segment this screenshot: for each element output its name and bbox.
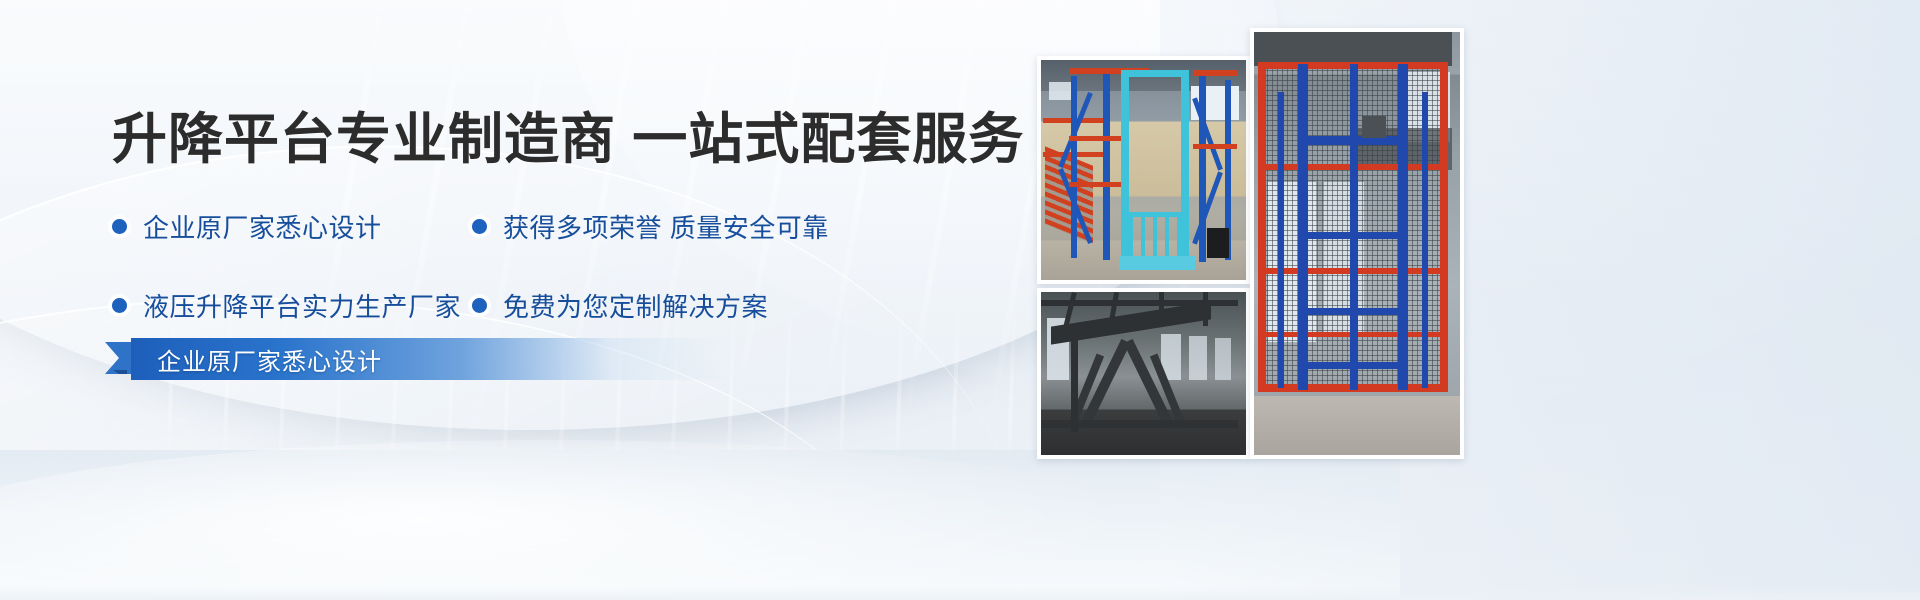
highlight-ribbon[interactable]: 企业原厂家悉心设计 — [105, 338, 745, 382]
banner-copy-block: 升降平台专业制造商 一站式配套服务 企业原厂家悉心设计 获得多项荣誉 质量安全可… — [0, 0, 1040, 600]
list-item: 企业原厂家悉心设计 — [112, 208, 472, 245]
photo-content — [1254, 32, 1460, 455]
caged-guide-rail-lift-photo[interactable] — [1250, 28, 1464, 459]
product-photo-collage — [1037, 0, 1920, 600]
photo-content — [1041, 60, 1246, 280]
ribbon-bar: 企业原厂家悉心设计 — [131, 338, 731, 380]
ribbon-label: 企业原厂家悉心设计 — [157, 342, 382, 377]
blue-dot-icon — [472, 298, 487, 313]
list-item: 获得多项荣誉 质量安全可靠 — [472, 208, 829, 245]
blue-dot-icon — [472, 219, 487, 234]
bullet-label: 液压升降平台实力生产厂家 — [143, 287, 461, 324]
bullet-label: 免费为您定制解决方案 — [503, 287, 768, 324]
promo-banner: 升降平台专业制造商 一站式配套服务 企业原厂家悉心设计 获得多项荣誉 质量安全可… — [0, 0, 1920, 600]
scissor-lift-in-workshop-photo[interactable] — [1037, 288, 1250, 459]
photo-content — [1041, 292, 1246, 455]
bullet-row: 企业原厂家悉心设计 获得多项荣誉 质量安全可靠 — [112, 208, 992, 245]
bullet-label: 企业原厂家悉心设计 — [143, 208, 382, 245]
bullet-label: 获得多项荣誉 质量安全可靠 — [503, 208, 829, 245]
bullet-row: 液压升降平台实力生产厂家 免费为您定制解决方案 — [112, 287, 992, 324]
list-item: 液压升降平台实力生产厂家 — [112, 287, 472, 324]
guide-rail-lift-in-warehouse-photo[interactable] — [1037, 56, 1250, 284]
page-title: 升降平台专业制造商 一站式配套服务 — [112, 108, 1024, 171]
blue-dot-icon — [112, 219, 127, 234]
list-item: 免费为您定制解决方案 — [472, 287, 768, 324]
blue-dot-icon — [112, 298, 127, 313]
